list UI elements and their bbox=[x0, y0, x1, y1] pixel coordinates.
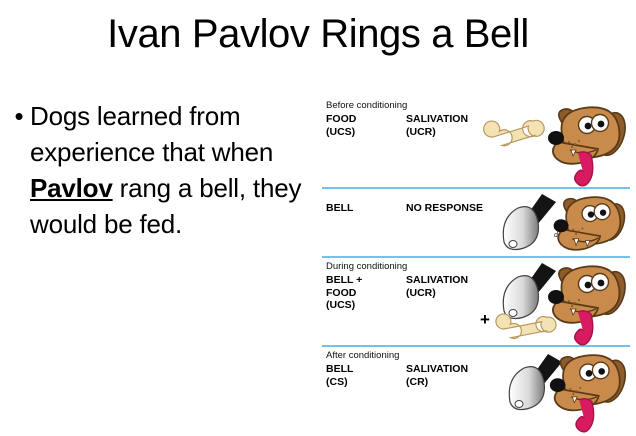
conditioning-row-before: Before conditioning FOOD (UCS) SALIVATIO… bbox=[320, 96, 632, 188]
dog-neutral-icon bbox=[548, 188, 632, 256]
plus-icon: + bbox=[480, 311, 490, 328]
bullet-text-before: Dogs learned from experience that when bbox=[30, 101, 273, 167]
dog-salivating-icon bbox=[542, 257, 632, 347]
response-label: SALIVATION (UCR) bbox=[406, 274, 468, 299]
bullet-text-emphasis: Pavlov bbox=[30, 173, 113, 203]
phase-label: During conditioning bbox=[326, 261, 407, 272]
stimulus-label: FOOD (UCS) bbox=[326, 113, 356, 138]
conditioning-row-bell: BELL NO RESPONSE ding, ding! bbox=[320, 188, 632, 257]
phase-label: Before conditioning bbox=[326, 100, 407, 111]
list-item: • Dogs learned from experience that when… bbox=[8, 98, 308, 242]
phase-label: After conditioning bbox=[326, 350, 399, 361]
response-label: SALIVATION (CR) bbox=[406, 363, 468, 388]
response-label: SALIVATION (UCR) bbox=[406, 113, 468, 138]
response-label: NO RESPONSE bbox=[406, 202, 483, 215]
stimulus-label: BELL (CS) bbox=[326, 363, 353, 388]
bullet-list: • Dogs learned from experience that when… bbox=[8, 98, 308, 242]
stimulus-label: BELL bbox=[326, 202, 353, 215]
conditioning-row-during: During conditioning BELL + FOOD (UCS) SA… bbox=[320, 257, 632, 346]
bullet-marker-icon: • bbox=[8, 98, 30, 134]
dog-salivating-icon bbox=[542, 98, 632, 188]
bullet-text: Dogs learned from experience that when P… bbox=[30, 98, 308, 242]
page-title: Ivan Pavlov Rings a Bell bbox=[0, 8, 636, 60]
conditioning-row-after: After conditioning BELL (CS) SALIVATION … bbox=[320, 346, 632, 432]
conditioning-diagram: Before conditioning FOOD (UCS) SALIVATIO… bbox=[320, 96, 632, 432]
dog-salivating-icon bbox=[544, 346, 632, 434]
stimulus-label: BELL + FOOD (UCS) bbox=[326, 274, 362, 312]
